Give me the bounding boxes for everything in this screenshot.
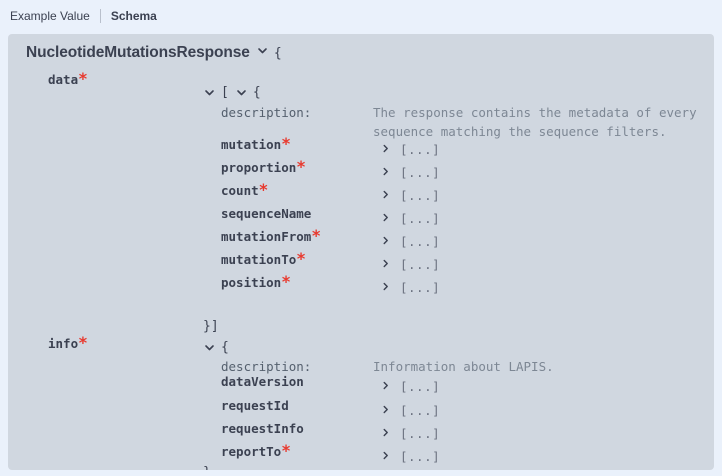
data-array-open-row: [ { bbox=[203, 85, 261, 100]
info-child-name-reportto: reportTo* bbox=[221, 441, 291, 460]
collapsed-value-requestid[interactable]: [...] bbox=[380, 403, 440, 418]
collapsed-value-sequencename[interactable]: [...] bbox=[380, 211, 440, 226]
required-marker: * bbox=[281, 134, 291, 153]
required-marker: * bbox=[311, 226, 321, 245]
data-child-name-position: position* bbox=[221, 272, 291, 291]
collapsed-value-position[interactable]: [...] bbox=[380, 280, 440, 295]
data-child-name-mutationfrom: mutationFrom* bbox=[221, 226, 321, 245]
data-child-name-sequencename: sequenceName bbox=[221, 203, 311, 222]
chevron-right-icon[interactable] bbox=[380, 143, 393, 156]
tab-separator bbox=[100, 9, 101, 23]
schema-panel: NucleotideMutationsResponse { data* [ { … bbox=[8, 34, 714, 470]
chevron-down-icon[interactable] bbox=[235, 86, 248, 99]
info-child-name-dataversion: dataVersion bbox=[221, 371, 304, 390]
required-marker: * bbox=[259, 180, 269, 199]
chevron-right-icon[interactable] bbox=[380, 281, 393, 294]
page-title: NucleotideMutationsResponse bbox=[26, 44, 250, 62]
model-title-row: NucleotideMutationsResponse { bbox=[8, 44, 714, 66]
required-marker: * bbox=[281, 441, 291, 460]
info-close-brace: } bbox=[203, 461, 211, 470]
chevron-right-icon[interactable] bbox=[380, 450, 393, 463]
data-open-bracket: [ bbox=[221, 85, 229, 100]
collapsed-value-requestinfo[interactable]: [...] bbox=[380, 426, 440, 441]
info-object-open-row: { bbox=[203, 340, 229, 355]
chevron-right-icon[interactable] bbox=[380, 427, 393, 440]
data-close-tokens: }] bbox=[203, 315, 219, 334]
chevron-right-icon[interactable] bbox=[380, 189, 393, 202]
info-child-name-requestinfo: requestInfo bbox=[221, 418, 304, 437]
required-marker: * bbox=[281, 272, 291, 291]
required-marker: * bbox=[296, 249, 306, 268]
chevron-right-icon[interactable] bbox=[380, 404, 393, 417]
data-open-brace: { bbox=[253, 85, 261, 100]
data-description-label: description: bbox=[221, 102, 311, 121]
chevron-right-icon[interactable] bbox=[380, 380, 393, 393]
required-marker: * bbox=[78, 333, 88, 352]
chevron-right-icon[interactable] bbox=[380, 166, 393, 179]
collapsed-value-dataversion[interactable]: [...] bbox=[380, 379, 440, 394]
collapsed-value-proportion[interactable]: [...] bbox=[380, 165, 440, 180]
property-block-data: data* [ { description: The response cont… bbox=[8, 66, 714, 298]
info-description-text: Information about LAPIS. bbox=[373, 356, 703, 375]
model-open-brace: { bbox=[274, 46, 282, 61]
schema-tabs: Example Value Schema bbox=[0, 0, 722, 28]
data-description-text: The response contains the metadata of ev… bbox=[373, 102, 703, 140]
data-child-name-count: count* bbox=[221, 180, 268, 199]
info-child-name-requestid: requestId bbox=[221, 395, 289, 414]
required-marker: * bbox=[78, 69, 88, 88]
info-open-brace: { bbox=[221, 340, 229, 355]
chevron-right-icon[interactable] bbox=[380, 212, 393, 225]
tab-schema[interactable]: Schema bbox=[109, 8, 159, 24]
chevron-down-icon[interactable] bbox=[203, 86, 216, 99]
chevron-down-icon[interactable] bbox=[256, 44, 269, 57]
chevron-right-icon[interactable] bbox=[380, 235, 393, 248]
data-child-name-mutationto: mutationTo* bbox=[221, 249, 306, 268]
collapsed-value-count[interactable]: [...] bbox=[380, 188, 440, 203]
property-name-data: data* bbox=[48, 69, 88, 88]
collapsed-value-mutation[interactable]: [...] bbox=[380, 142, 440, 157]
data-child-name-mutation: mutation* bbox=[221, 134, 291, 153]
required-marker: * bbox=[296, 157, 306, 176]
collapsed-value-reportto[interactable]: [...] bbox=[380, 449, 440, 464]
tab-example-value[interactable]: Example Value bbox=[8, 8, 92, 24]
collapsed-value-mutationto[interactable]: [...] bbox=[380, 257, 440, 272]
collapsed-value-mutationfrom[interactable]: [...] bbox=[380, 234, 440, 249]
chevron-right-icon[interactable] bbox=[380, 258, 393, 271]
chevron-down-icon[interactable] bbox=[203, 341, 216, 354]
property-name-info: info* bbox=[48, 333, 88, 352]
data-child-name-proportion: proportion* bbox=[221, 157, 306, 176]
